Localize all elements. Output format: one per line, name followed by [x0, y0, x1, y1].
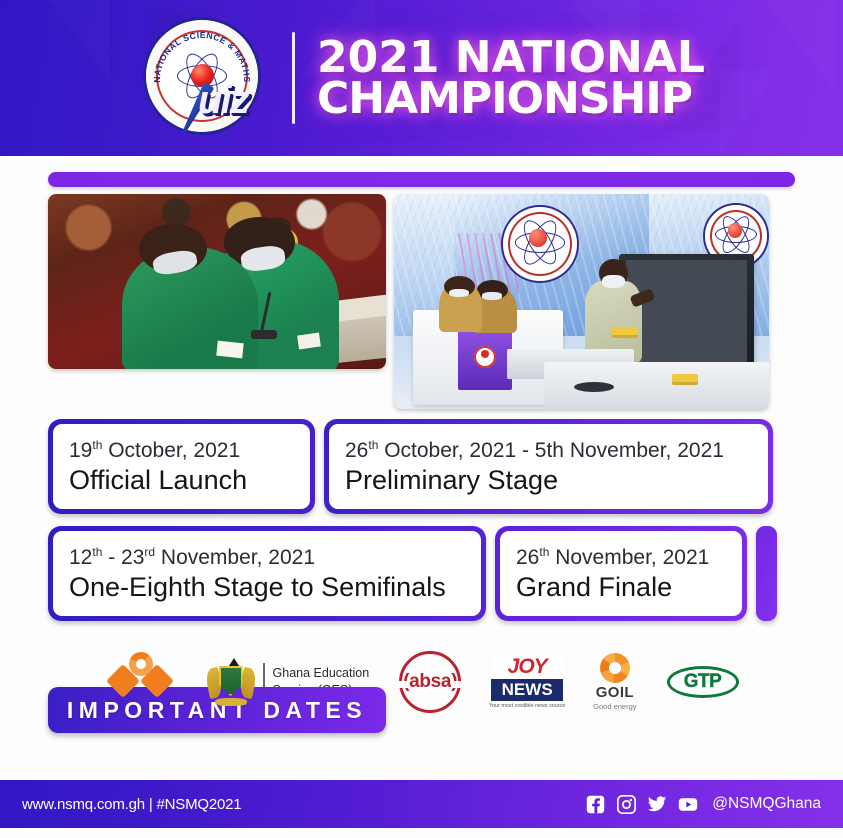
- card-date-text: 19th October, 2021: [69, 439, 294, 463]
- poster-footer: www.nsmq.com.gh | #NSMQ2021 @NSMQGhana: [0, 780, 843, 828]
- header-divider: [292, 32, 295, 124]
- twitter-icon[interactable]: [647, 794, 667, 814]
- goil-logo-icon: [600, 653, 630, 683]
- youtube-icon[interactable]: [678, 794, 698, 814]
- ghana-coat-of-arms-icon: [207, 658, 255, 706]
- photo-studio-set: uiz uiz: [394, 194, 769, 409]
- absa-label: (absa): [403, 671, 457, 693]
- card-date-text: 26th October, 2021 - 5th November, 2021: [345, 439, 752, 463]
- row-accent-bar: [756, 526, 777, 621]
- joy-tagline: Your most credible news source: [489, 703, 565, 709]
- presenter-figure: [585, 259, 641, 362]
- poster-root: NATIONAL SCIENCE & MATHS uiz 2021 NATION…: [0, 0, 843, 838]
- card-date-text: 12th - 23rd November, 2021: [69, 546, 465, 570]
- sponsor-goil: GOIL Good energy: [593, 653, 636, 711]
- date-card-preliminary-stage[interactable]: 26th October, 2021 - 5th November, 2021 …: [324, 419, 773, 514]
- gtp-label: GTP: [684, 671, 722, 693]
- nsmq-logo: NATIONAL SCIENCE & MATHS uiz: [138, 16, 278, 141]
- card-title-text: Grand Finale: [516, 572, 726, 603]
- card-title-text: Preliminary Stage: [345, 465, 752, 496]
- contestants-group: [439, 276, 522, 332]
- sponsor-joy-news: JOY NEWS Your most credible news source: [491, 655, 563, 709]
- dates-card-grid: 19th October, 2021 Official Launch 26th …: [48, 419, 795, 621]
- primetime-logo-icon: [110, 652, 172, 696]
- dates-row-1: 19th October, 2021 Official Launch 26th …: [48, 419, 795, 514]
- photo-contest-hall: [48, 194, 386, 369]
- card-date-text: 26th November, 2021: [516, 546, 726, 570]
- footer-social-group: @NSMQGhana: [585, 794, 821, 814]
- sponsor-absa: (absa): [399, 651, 461, 713]
- date-card-official-launch[interactable]: 19th October, 2021 Official Launch: [48, 419, 315, 514]
- facebook-icon[interactable]: [585, 794, 605, 814]
- accent-bar: [48, 172, 795, 187]
- poster-header: NATIONAL SCIENCE & MATHS uiz 2021 NATION…: [0, 0, 843, 156]
- header-title-block: 2021 NATIONAL CHAMPIONSHIP: [317, 37, 705, 120]
- card-title-text: Official Launch: [69, 465, 294, 496]
- logo-quiz-word: uiz: [198, 78, 248, 123]
- footer-website: www.nsmq.com.gh | #NSMQ2021: [22, 796, 241, 813]
- instagram-icon[interactable]: [616, 794, 636, 814]
- title-line-2: CHAMPIONSHIP: [317, 78, 705, 119]
- date-card-grand-finale[interactable]: 26th November, 2021 Grand Finale: [495, 526, 747, 621]
- photo-row: uiz uiz: [48, 194, 795, 409]
- social-handle: @NSMQGhana: [712, 795, 821, 813]
- sponsor-gtp: GTP: [667, 666, 739, 698]
- goil-label: GOIL: [596, 684, 634, 701]
- card-title-text: One-Eighth Stage to Semifinals: [69, 572, 465, 603]
- set-logo-main: [503, 207, 577, 281]
- poster-body: uiz uiz: [0, 172, 843, 731]
- dates-row-2: 12th - 23rd November, 2021 One-Eighth St…: [48, 526, 795, 621]
- joy-label-bottom: NEWS: [502, 680, 553, 699]
- title-line-1: 2021 NATIONAL: [317, 37, 705, 78]
- goil-tagline: Good energy: [593, 702, 636, 711]
- joy-label-top: JOY: [508, 655, 547, 678]
- ges-label-line1: Ghana Education: [273, 665, 370, 682]
- date-card-one-eighth-to-semifinals[interactable]: 12th - 23rd November, 2021 One-Eighth St…: [48, 526, 486, 621]
